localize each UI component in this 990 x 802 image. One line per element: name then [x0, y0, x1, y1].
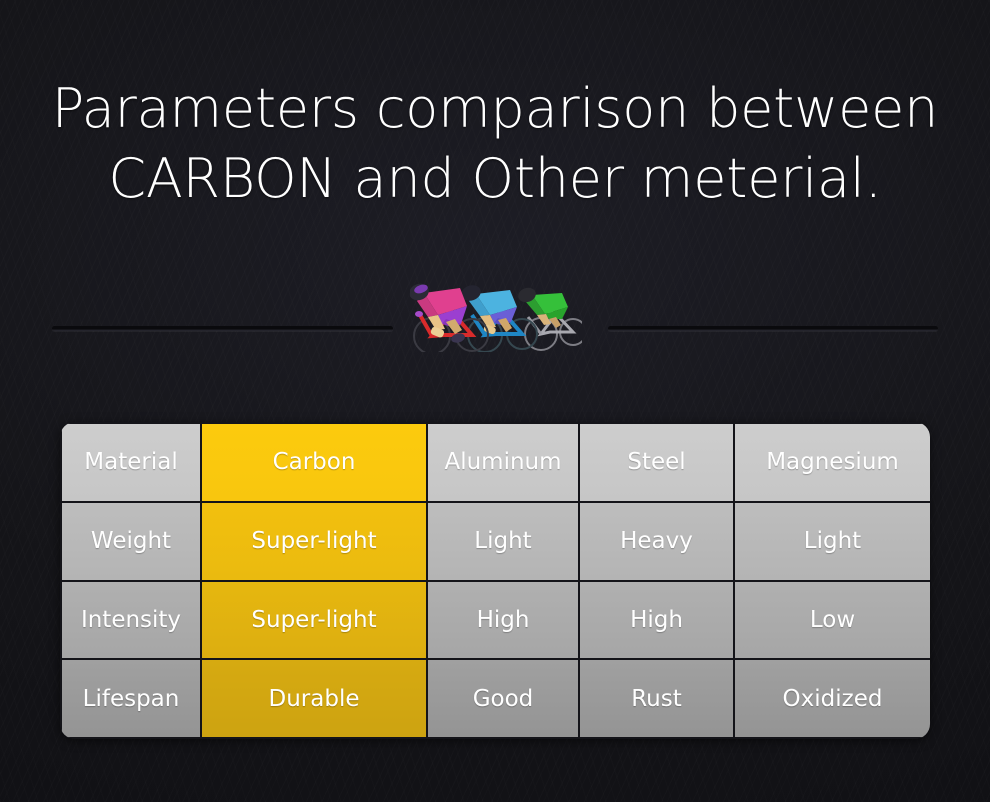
cell-lifespan-steel: Rust — [579, 659, 734, 738]
cell-weight-magnesium: Light — [734, 502, 930, 581]
cell-material-magnesium: Magnesium — [734, 423, 930, 502]
comparison-table: Material Carbon Aluminum Steel Magnesium… — [60, 422, 930, 739]
page-title-line-1: Parameters comparison between — [0, 74, 990, 144]
cell-lifespan-carbon: Durable — [201, 659, 427, 738]
cell-material-label: Material — [61, 423, 201, 502]
cell-intensity-aluminum: High — [427, 581, 579, 660]
table-row: Material Carbon Aluminum Steel Magnesium — [61, 423, 930, 502]
cell-intensity-carbon: Super-light — [201, 581, 427, 660]
cell-lifespan-aluminum: Good — [427, 659, 579, 738]
cell-intensity-magnesium: Low — [734, 581, 930, 660]
infographic-page: Parameters comparison between CARBON and… — [0, 0, 990, 802]
page-title-line-2: CARBON and Other meterial. — [0, 144, 990, 214]
cell-material-carbon: Carbon — [201, 423, 427, 502]
cell-weight-aluminum: Light — [427, 502, 579, 581]
cell-material-aluminum: Aluminum — [427, 423, 579, 502]
cell-intensity-steel: High — [579, 581, 734, 660]
cell-material-steel: Steel — [579, 423, 734, 502]
cyclist-green — [516, 286, 582, 350]
cell-weight-label: Weight — [61, 502, 201, 581]
cell-lifespan-magnesium: Oxidized — [734, 659, 930, 738]
table-row: Weight Super-light Light Heavy Light — [61, 502, 930, 581]
table-row: Lifespan Durable Good Rust Oxidized — [61, 659, 930, 738]
cell-weight-steel: Heavy — [579, 502, 734, 581]
cell-weight-carbon: Super-light — [201, 502, 427, 581]
cell-intensity-label: Intensity — [61, 581, 201, 660]
divider-left — [52, 326, 393, 331]
table-row: Intensity Super-light High High Low — [61, 581, 930, 660]
divider-right — [608, 326, 938, 331]
cyclists-illustration — [410, 262, 582, 352]
page-title: Parameters comparison between CARBON and… — [0, 74, 990, 214]
cell-lifespan-label: Lifespan — [61, 659, 201, 738]
